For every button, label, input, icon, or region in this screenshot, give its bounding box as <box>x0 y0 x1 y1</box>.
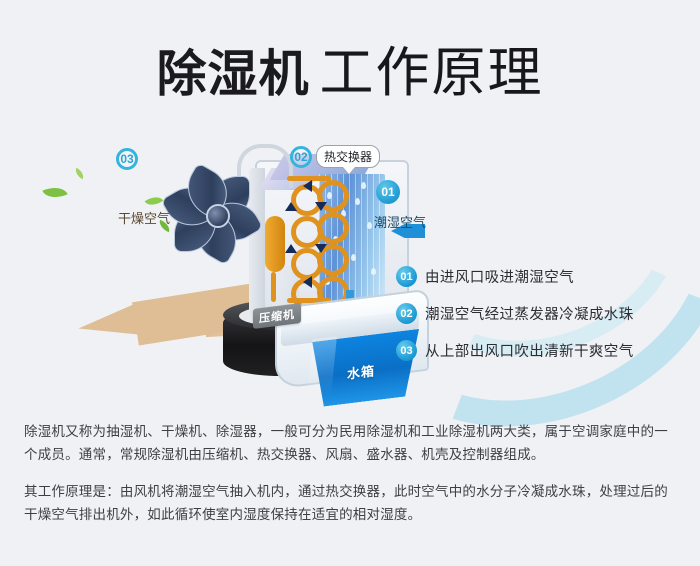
diagram-badge-01: 01 <box>376 180 400 204</box>
legend-list: 01 由进风口吸进潮湿空气 02 潮湿空气经过蒸发器冷凝成水珠 03 从上部出风… <box>396 258 686 369</box>
flow-arrow-left-icon <box>303 180 312 192</box>
infographic-page: 除湿机工作原理 <box>0 0 700 566</box>
title-part-principle: 工作原理 <box>320 43 544 103</box>
title-part-product: 除湿机 <box>157 46 310 102</box>
flow-arrow-up-icon <box>285 202 297 211</box>
coil-ring <box>317 212 349 244</box>
legend-badge-02: 02 <box>396 303 417 324</box>
dry-air-label: 干燥空气 <box>118 208 170 227</box>
flow-arrow-up-icon <box>285 244 297 253</box>
leaf-icon <box>42 182 67 202</box>
water-droplet-icon <box>351 254 356 261</box>
coil-pipe <box>271 272 276 302</box>
diagram-badge-02: 02 <box>290 146 312 168</box>
list-item: 02 潮湿空气经过蒸发器冷凝成水珠 <box>396 295 686 332</box>
fan-hub <box>206 204 230 228</box>
page-title: 除湿机工作原理 <box>0 28 700 107</box>
water-droplet-icon <box>371 268 376 275</box>
description-paragraph-2: 其工作原理是：由风机将潮湿空气抽入机内，通过热交换器，此时空气中的水分子冷凝成水… <box>24 480 680 526</box>
description-block: 除湿机又称为抽湿机、干燥机、除湿器，一般可分为民用除湿机和工业除湿机两大类，属于… <box>24 420 680 526</box>
flow-arrow-left-icon <box>303 276 312 288</box>
water-droplet-icon <box>367 222 372 229</box>
humid-air-label: 潮湿空气 <box>374 212 426 231</box>
water-droplet-icon <box>355 198 360 205</box>
legend-badge-03: 03 <box>396 340 417 361</box>
water-droplet-icon <box>361 182 366 189</box>
heat-exchanger-callout: 热交换器 <box>316 145 380 168</box>
list-item: 03 从上部出风口吹出清新干爽空气 <box>396 332 686 369</box>
flow-arrow-down-icon <box>315 244 327 253</box>
description-paragraph-1: 除湿机又称为抽湿机、干燥机、除湿器，一般可分为民用除湿机和工业除湿机两大类，属于… <box>24 420 680 466</box>
legend-badge-01: 01 <box>396 266 417 287</box>
leaf-icon <box>73 168 86 180</box>
flow-arrow-down-icon <box>315 202 327 211</box>
legend-text-02: 潮湿空气经过蒸发器冷凝成水珠 <box>425 303 634 324</box>
refrigerant-coil-assembly <box>263 176 333 304</box>
water-tank-label: 水箱 <box>347 360 375 382</box>
fan-illustration <box>170 168 262 260</box>
diagram-badge-03: 03 <box>116 148 138 170</box>
legend-text-01: 由进风口吸进潮湿空气 <box>425 266 574 287</box>
accumulator-cylinder <box>265 216 285 272</box>
list-item: 01 由进风口吸进潮湿空气 <box>396 258 686 295</box>
legend-text-03: 从上部出风口吹出清新干爽空气 <box>425 340 634 361</box>
